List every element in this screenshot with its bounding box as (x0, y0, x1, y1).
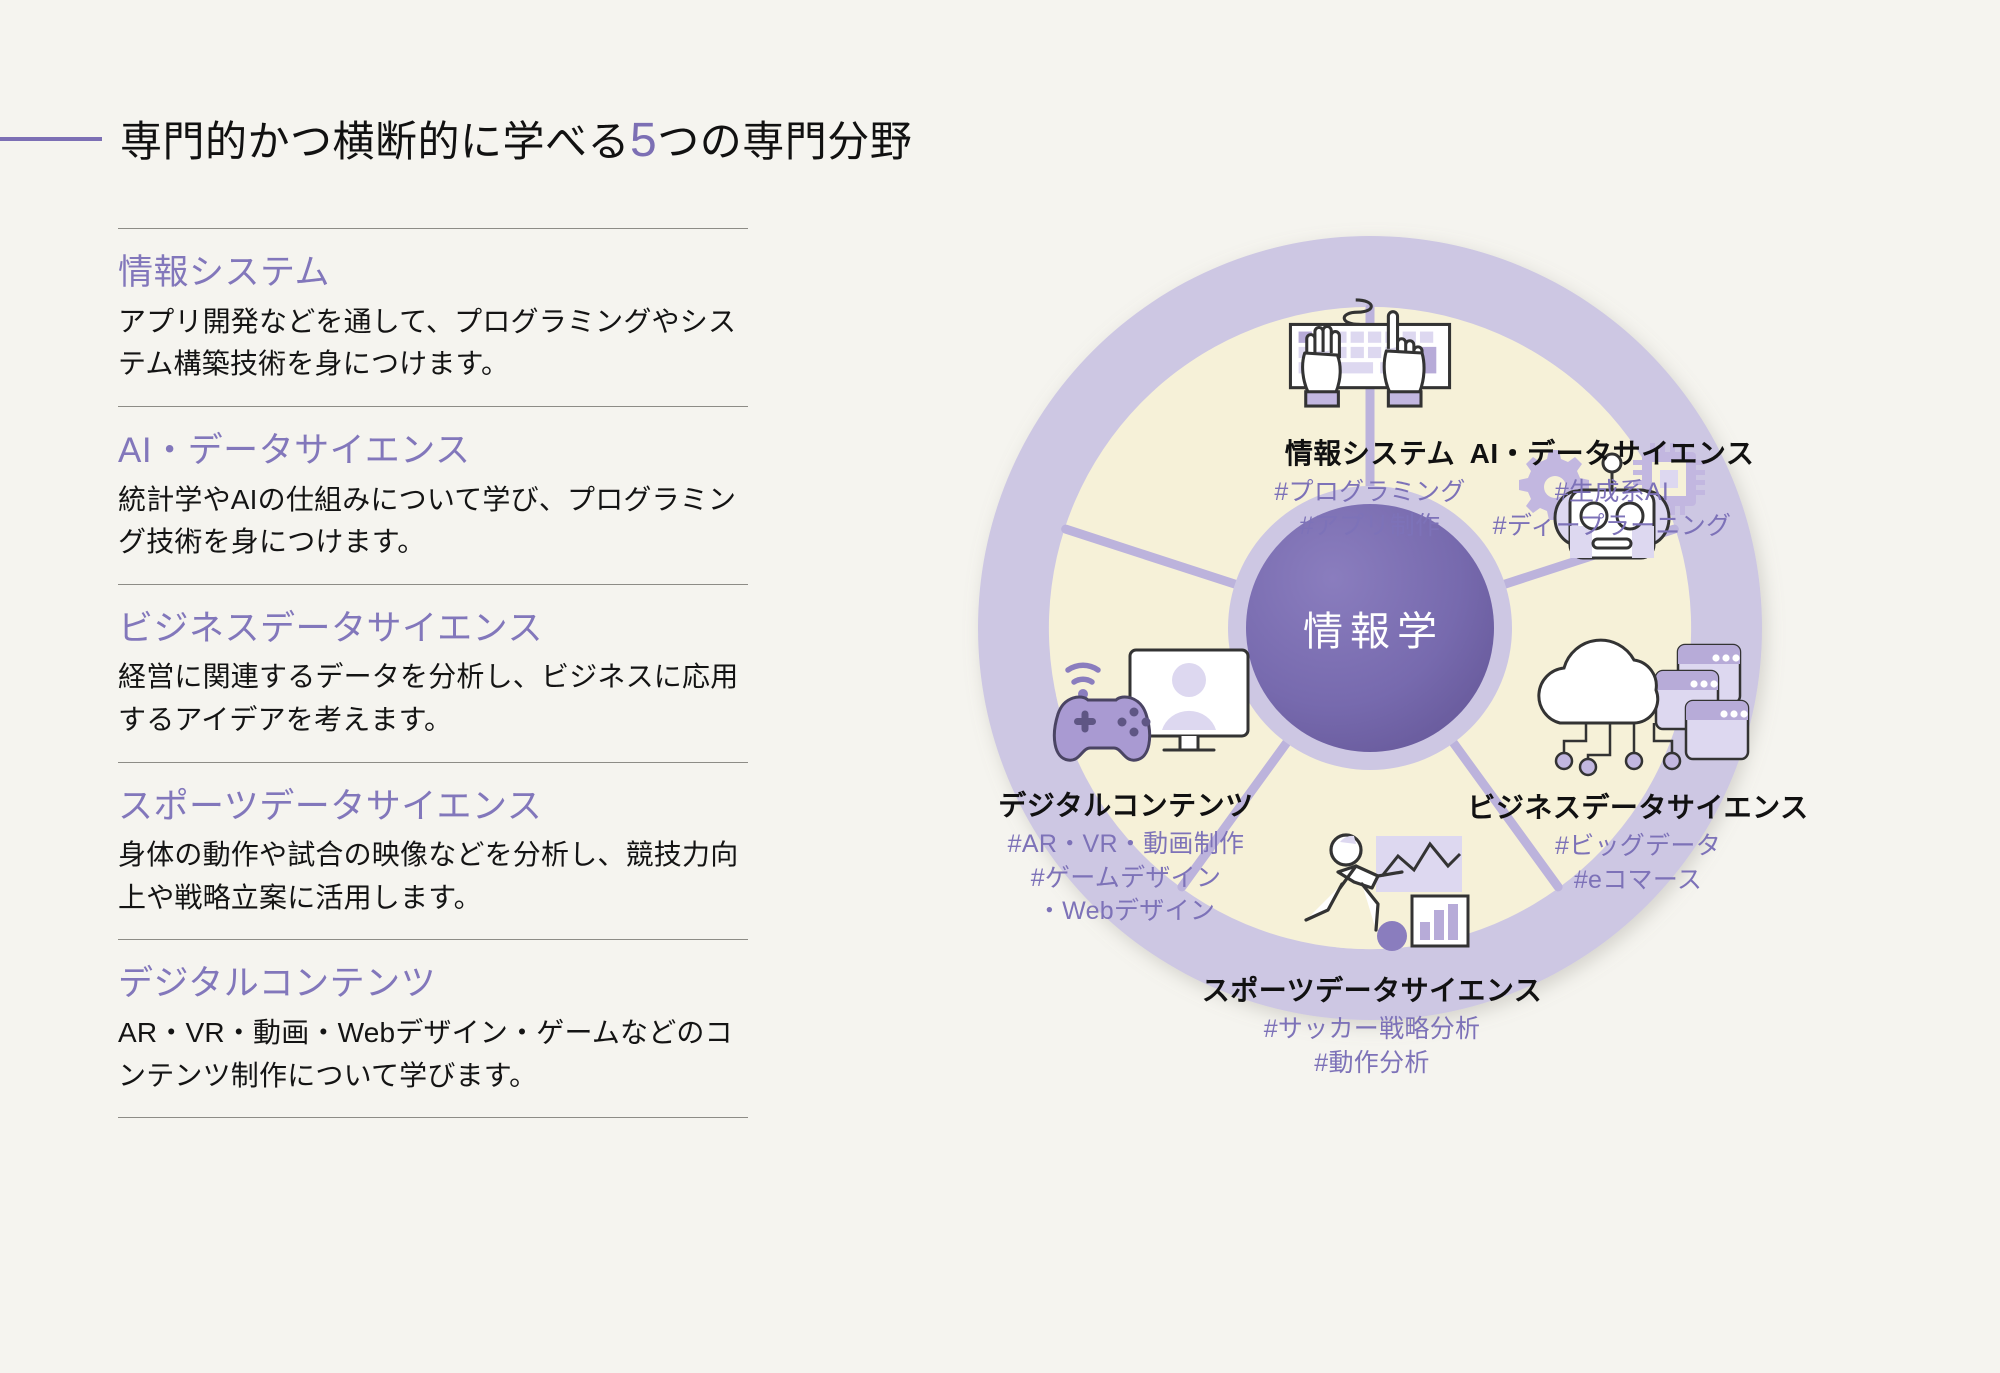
page-title-text: 専門的かつ横断的に学べる5つの専門分野 (120, 108, 912, 169)
field-name: ビジネスデータサイエンス (118, 607, 748, 651)
field-description: 身体の動作や試合の映像などを分析し、競技力向上や戦略立案に活用します。 (118, 834, 748, 919)
field-description: アプリ開発などを通して、プログラミングやシステム構築技術を身につけます。 (118, 301, 748, 386)
field-description: 経営に関連するデータを分析し、ビジネスに応用するアイデアを考えます。 (118, 656, 748, 741)
field-name: デジタルコンテンツ (118, 962, 748, 1006)
pentagon-wheel-diagram: 情報学 情報システム #プログラミング #アプリ制作 AI・データサイエンス #… (920, 178, 1820, 1078)
list-item: スポーツデータサイエンス 身体の動作や試合の映像などを分析し、競技力向上や戦略立… (118, 762, 748, 940)
title-number: 5 (630, 114, 657, 167)
field-name: スポーツデータサイエンス (118, 785, 748, 829)
field-description: 統計学やAIの仕組みについて学び、プログラミング技術を身につけます。 (118, 479, 748, 564)
list-item: 情報システム アプリ開発などを通して、プログラミングやシステム構築技術を身につけ… (118, 228, 748, 406)
list-item: ビジネスデータサイエンス 経営に関連するデータを分析し、ビジネスに応用するアイデ… (118, 584, 748, 762)
field-name: 情報システム (118, 251, 748, 295)
field-name: AI・データサイエンス (118, 429, 748, 473)
title-rule (0, 137, 102, 141)
page-title: 専門的かつ横断的に学べる5つの専門分野 (0, 108, 912, 169)
field-description: AR・VR・動画・Webデザイン・ゲームなどのコンテンツ制作について学びます。 (118, 1012, 748, 1097)
title-prefix: 専門的かつ横断的に学べる (120, 118, 630, 165)
infographic-root: 専門的かつ横断的に学べる5つの専門分野 情報システム アプリ開発などを通して、プ… (0, 0, 2000, 1373)
center-label: 情報学 (1296, 599, 1444, 657)
field-list: 情報システム アプリ開発などを通して、プログラミングやシステム構築技術を身につけ… (118, 228, 748, 1118)
list-item: AI・データサイエンス 統計学やAIの仕組みについて学び、プログラミング技術を身… (118, 406, 748, 584)
list-item: デジタルコンテンツ AR・VR・動画・Webデザイン・ゲームなどのコンテンツ制作… (118, 939, 748, 1118)
title-suffix: つの専門分野 (657, 118, 912, 165)
